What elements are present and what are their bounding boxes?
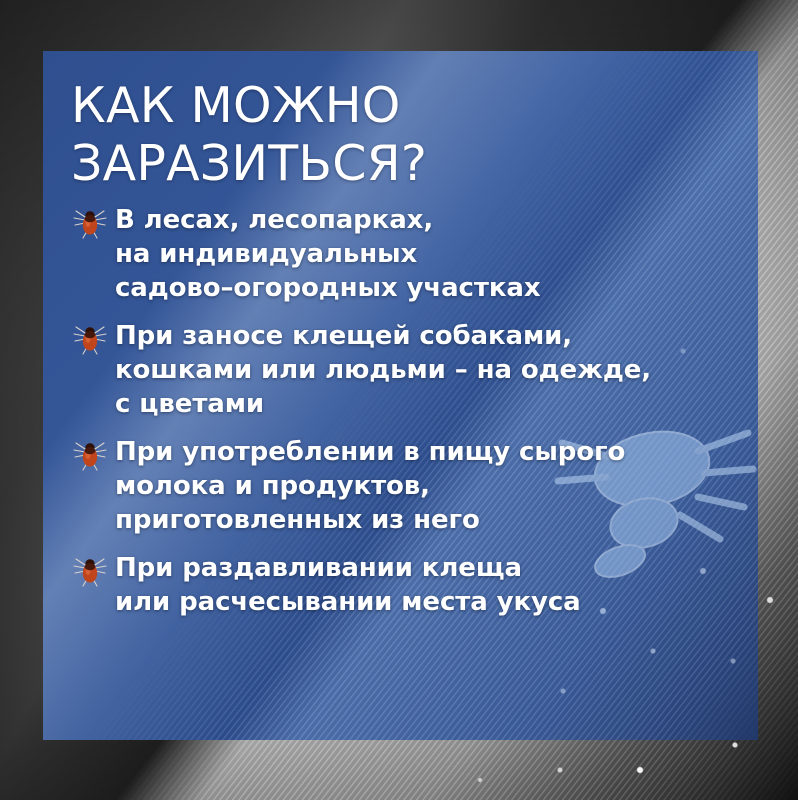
panel-content: КАК МОЖНО ЗАРАЗИТЬСЯ? — [71, 77, 728, 619]
list-item-text: При употреблении в пищу сырого молока и … — [115, 435, 625, 537]
page-title-line-2: ЗАРАЗИТЬСЯ? — [71, 135, 728, 193]
list-item: В лесах, лесопарках, на индивидуальных с… — [71, 203, 728, 305]
list-item-line: При раздавливании клеща — [115, 551, 581, 585]
list-item-line: В лесах, лесопарках, — [115, 203, 541, 237]
transmission-routes-list: В лесах, лесопарках, на индивидуальных с… — [71, 203, 728, 620]
list-item-line: При заносе клещей собаками, — [115, 319, 651, 353]
poster-canvas: КАК МОЖНО ЗАРАЗИТЬСЯ? — [0, 0, 798, 800]
list-item-line: При употреблении в пищу сырого — [115, 435, 625, 469]
list-item: При заносе клещей собаками, кошками или … — [71, 319, 728, 421]
tick-icon — [71, 436, 109, 474]
list-item-text: В лесах, лесопарках, на индивидуальных с… — [115, 203, 541, 305]
page-title-line-1: КАК МОЖНО — [71, 77, 728, 135]
tick-icon — [71, 204, 109, 242]
tick-icon — [71, 552, 109, 590]
list-item-line: приготовленных из него — [115, 503, 625, 537]
list-item-line: кошками или людьми – на одежде, — [115, 353, 651, 387]
page-title: КАК МОЖНО ЗАРАЗИТЬСЯ? — [71, 77, 728, 193]
list-item-line: молока и продуктов, — [115, 469, 625, 503]
tick-icon — [71, 320, 109, 358]
list-item-text: При заносе клещей собаками, кошками или … — [115, 319, 651, 421]
list-item-line: садово–огородных участках — [115, 271, 541, 305]
list-item-line: на индивидуальных — [115, 237, 541, 271]
list-item-line: с цветами — [115, 387, 651, 421]
blue-content-panel: КАК МОЖНО ЗАРАЗИТЬСЯ? — [43, 51, 758, 740]
list-item-text: При раздавливании клеща или расчесывании… — [115, 551, 581, 619]
list-item: При употреблении в пищу сырого молока и … — [71, 435, 728, 537]
list-item-line: или расчесывании места укуса — [115, 585, 581, 619]
list-item: При раздавливании клеща или расчесывании… — [71, 551, 728, 619]
